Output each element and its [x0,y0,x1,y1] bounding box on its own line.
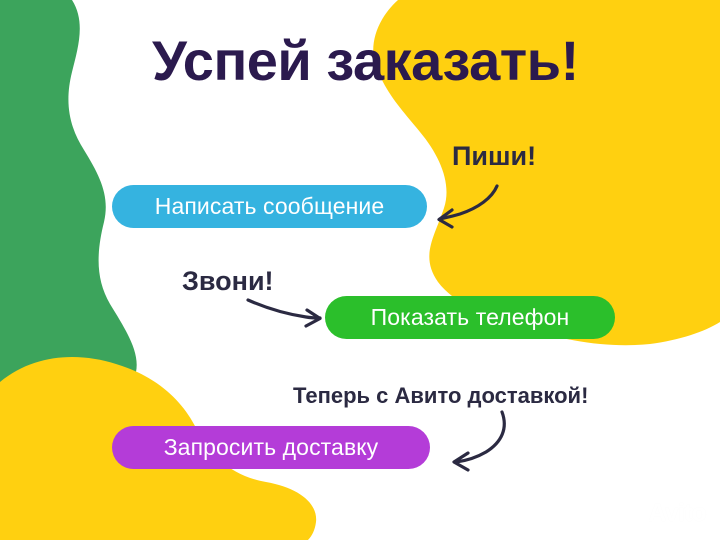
avito-watermark-text: Avito [648,499,706,528]
poster-canvas: Успей заказать! Написать сообщение Показ… [0,0,720,540]
show-phone-button[interactable]: Показать телефон [325,296,615,339]
page-title: Успей заказать! [152,33,579,89]
caption-delivery: Теперь с Авито доставкой! [293,383,588,409]
caption-write: Пиши! [452,141,536,172]
caption-call: Звони! [182,266,274,297]
avito-logo-icon [621,503,643,525]
avito-watermark: Avito [621,499,706,528]
request-delivery-button[interactable]: Запросить доставку [112,426,430,469]
write-message-button[interactable]: Написать сообщение [112,185,427,228]
